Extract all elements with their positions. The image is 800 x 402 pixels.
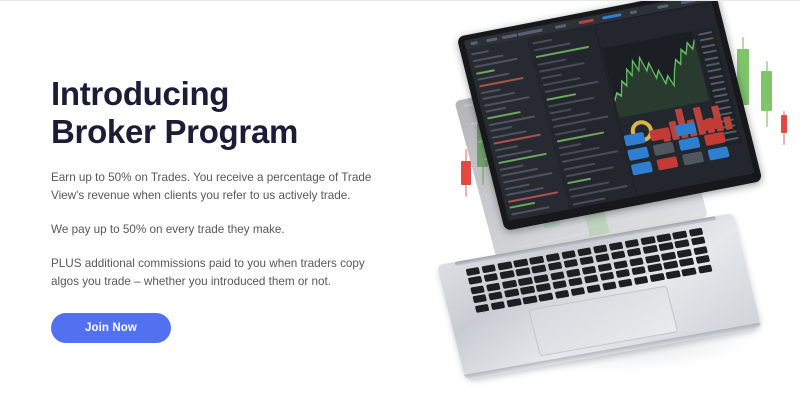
laptop-illustration <box>415 1 800 402</box>
hero-visual <box>415 1 800 402</box>
trading-dashboard-screen <box>464 0 755 221</box>
cta-container: Join Now <box>51 313 391 343</box>
laptop-screen-unit <box>457 0 763 231</box>
headline-line-2: Broker Program <box>51 113 391 151</box>
join-now-button[interactable]: Join Now <box>51 313 171 343</box>
page-title: Introducing Broker Program <box>51 75 391 151</box>
hero-section: Introducing Broker Program Earn up to 50… <box>0 0 800 402</box>
hero-paragraph-2: We pay up to 50% on every trade they mak… <box>51 221 391 239</box>
hero-paragraph-3: PLUS additional commissions paid to you … <box>51 255 381 291</box>
hero-paragraph-1: Earn up to 50% on Trades. You receive a … <box>51 169 381 205</box>
hero-copy-column: Introducing Broker Program Earn up to 50… <box>51 75 391 343</box>
laptop-screen-bezel <box>457 0 763 231</box>
headline-line-1: Introducing <box>51 75 391 113</box>
